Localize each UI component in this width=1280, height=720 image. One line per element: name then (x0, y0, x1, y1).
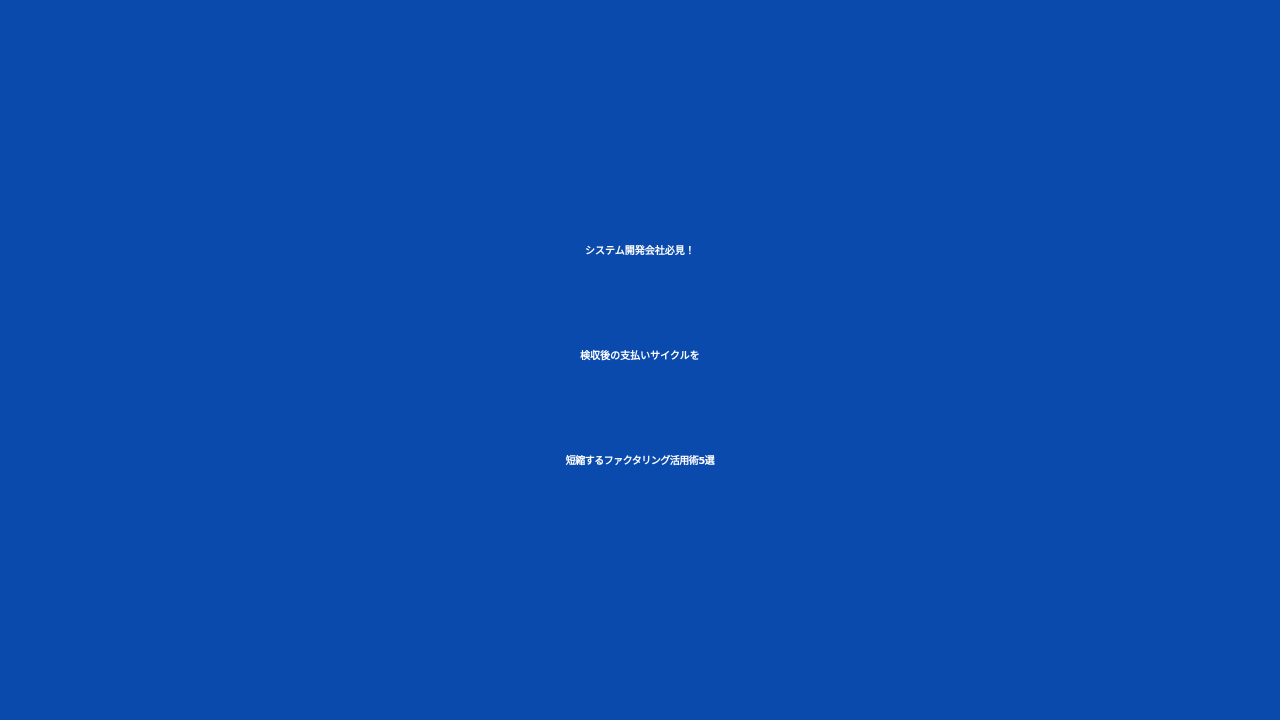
page-title: システム開発会社必見！ 検収後の支払いサイクルを 短縮するファクタリング活用術5… (0, 199, 1280, 514)
title-line-1: システム開発会社必見！ (8, 199, 1272, 304)
title-card: システム開発会社必見！ 検収後の支払いサイクルを 短縮するファクタリング活用術5… (0, 0, 1280, 720)
title-line-3: 短縮するファクタリング活用術5選 (8, 409, 1272, 514)
title-line-2: 検収後の支払いサイクルを (8, 304, 1272, 409)
